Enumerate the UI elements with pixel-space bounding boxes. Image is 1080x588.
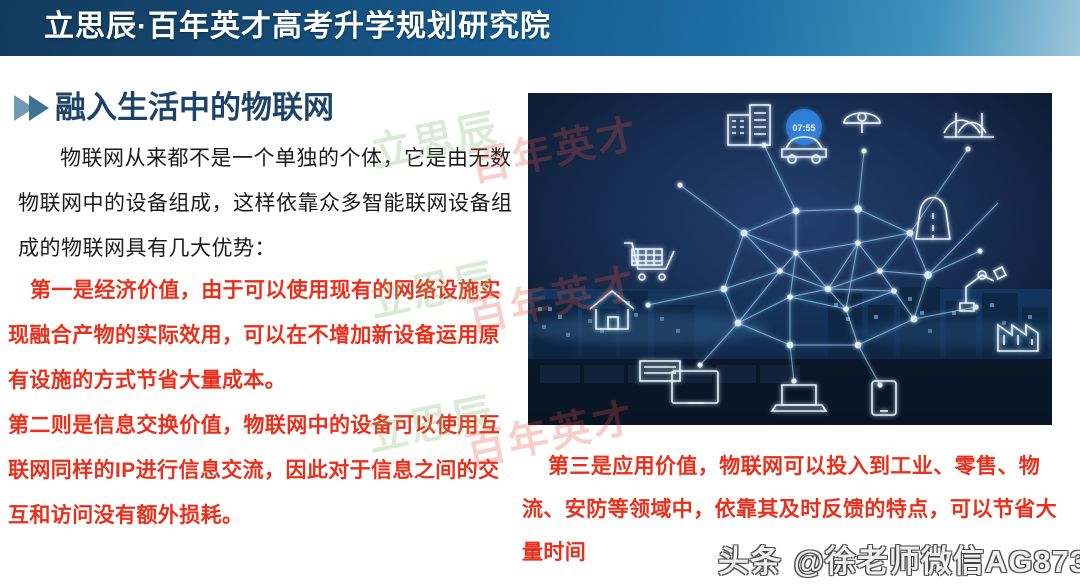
section-heading-label: 融入生活中的物联网 (55, 88, 334, 128)
section-heading: 融入生活中的物联网 (14, 86, 334, 130)
source-watermark: 头条 @徐老师微信AG873D (718, 536, 1080, 581)
body-paragraph: 物联网从来都不是一个单独的个体，它是由无数物联网中的设备组成，这样依靠众多智能联… (18, 136, 518, 271)
source-watermark-platform: 头条 (718, 544, 782, 579)
svg-text:07:55: 07:55 (792, 123, 815, 133)
slide-canvas: 立思辰·百年英才高考升学规划研究院 融入生活中的物联网 物联网从来都不是一个单独… (0, 0, 1080, 588)
page-title: 立思辰·百年英才高考升学规划研究院 (44, 7, 551, 47)
double-arrow-icon-group (14, 95, 49, 121)
arrow-right-icon-secondary (29, 95, 49, 121)
iot-network-illustration: 07:55 (528, 93, 1052, 425)
highlight-point-two: 第二则是信息交换价值，物联网中的设备可以使用互联网同样的IP进行信息交流，因此对… (8, 403, 520, 538)
source-watermark-handle: @徐老师微信AG873D (794, 536, 1080, 581)
highlight-point-one: 第一是经济价值，由于可以使用现有的网络设施实现融合产物的实际效用，可以在不增加新… (8, 268, 520, 403)
header-bar: 立思辰·百年英才高考升学规划研究院 (0, 0, 1080, 56)
